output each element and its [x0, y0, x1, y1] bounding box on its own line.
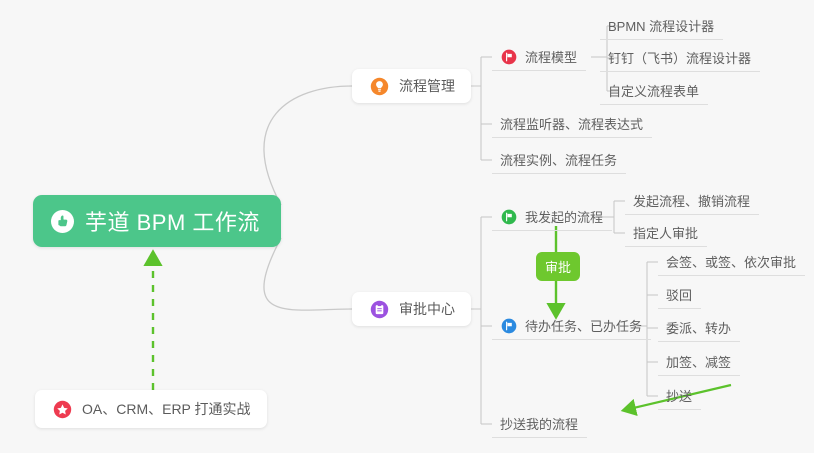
- flag-icon: [500, 48, 517, 65]
- leaf-countersign[interactable]: 会签、或签、依次审批: [658, 248, 805, 276]
- leaf-label-delegate-transfer: 委派、转办: [666, 318, 731, 337]
- link-root-to-approval-center: [264, 238, 352, 310]
- link-root-to-process-management: [264, 86, 352, 205]
- leaf-label-bpmn-designer: BPMN 流程设计器: [608, 16, 714, 35]
- leaf-add-remove-sign[interactable]: 加签、减签: [658, 348, 740, 376]
- leaf-label-start-cancel-process: 发起流程、撤销流程: [633, 191, 750, 210]
- star-icon: [51, 398, 73, 420]
- leaf-delegate-transfer[interactable]: 委派、转办: [658, 314, 740, 342]
- flag-icon: [500, 208, 517, 225]
- leaf-label-process-model: 流程模型: [525, 47, 577, 66]
- leaf-todo-done-tasks[interactable]: 待办任务、已办任务: [492, 312, 651, 340]
- leaf-label-dingtalk-designer: 钉钉（飞书）流程设计器: [608, 48, 751, 67]
- leaf-label-cc-my-process: 抄送我的流程: [500, 414, 578, 433]
- approval-badge-label: 审批: [545, 257, 571, 276]
- thumbs-up-icon: [51, 210, 74, 233]
- leaf-label-process-instance: 流程实例、流程任务: [500, 150, 617, 169]
- leaf-assigned-approver[interactable]: 指定人审批: [625, 219, 707, 247]
- leaf-cc-my-process[interactable]: 抄送我的流程: [492, 410, 587, 438]
- leaf-cc[interactable]: 抄送: [658, 382, 701, 410]
- branch-label-process-management: 流程管理: [399, 76, 455, 96]
- root-label: 芋道 BPM 工作流: [85, 205, 260, 237]
- leaf-start-cancel-process[interactable]: 发起流程、撤销流程: [625, 187, 759, 215]
- root-node[interactable]: 芋道 BPM 工作流: [33, 195, 281, 247]
- leaf-label-todo-done-tasks: 待办任务、已办任务: [525, 316, 642, 335]
- leaf-label-cc: 抄送: [666, 386, 692, 405]
- approval-badge: 审批: [536, 252, 580, 281]
- flag-icon: [500, 317, 517, 334]
- lightbulb-icon: [368, 75, 390, 97]
- leaf-label-my-started-process: 我发起的流程: [525, 207, 603, 226]
- leaf-process-listener[interactable]: 流程监听器、流程表达式: [492, 110, 652, 138]
- leaf-label-process-listener: 流程监听器、流程表达式: [500, 114, 643, 133]
- branch-node-process-management[interactable]: 流程管理: [352, 69, 471, 103]
- leaf-label-custom-form: 自定义流程表单: [608, 81, 699, 100]
- leaf-label-countersign: 会签、或签、依次审批: [666, 252, 796, 271]
- mindmap-canvas: 芋道 BPM 工作流 流程管理 流程模型 流程监听器、流程表达式 流程实例、流: [0, 0, 814, 453]
- leaf-my-started-process[interactable]: 我发起的流程: [492, 203, 612, 231]
- leaf-reject[interactable]: 驳回: [658, 281, 701, 309]
- callout-label: OA、CRM、ERP 打通实战: [82, 399, 251, 419]
- branch-label-approval-center: 审批中心: [399, 299, 455, 319]
- leaf-process-model[interactable]: 流程模型: [492, 43, 586, 71]
- leaf-label-assigned-approver: 指定人审批: [633, 223, 698, 242]
- clipboard-icon: [368, 298, 390, 320]
- leaf-label-reject: 驳回: [666, 285, 692, 304]
- leaf-custom-form[interactable]: 自定义流程表单: [600, 77, 708, 105]
- leaf-dingtalk-designer[interactable]: 钉钉（飞书）流程设计器: [600, 44, 760, 72]
- leaf-bpmn-designer[interactable]: BPMN 流程设计器: [600, 12, 723, 40]
- leaf-label-add-remove-sign: 加签、减签: [666, 352, 731, 371]
- callout-node[interactable]: OA、CRM、ERP 打通实战: [35, 390, 267, 428]
- branch-node-approval-center[interactable]: 审批中心: [352, 292, 471, 326]
- leaf-process-instance[interactable]: 流程实例、流程任务: [492, 146, 626, 174]
